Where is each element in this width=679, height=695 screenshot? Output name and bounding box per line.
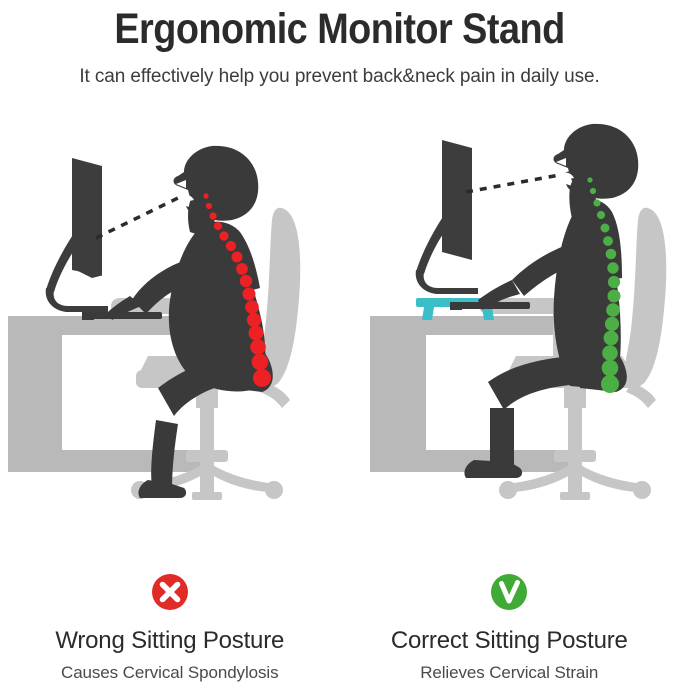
caption-title-wrong: Wrong Sitting Posture [0,626,340,656]
illustration-wrong-posture [0,120,340,540]
check-circle-icon [489,572,529,612]
x-circle-icon [150,572,190,612]
caption-title-correct: Correct Sitting Posture [340,626,679,656]
infographic-page: Ergonomic Monitor Stand It can effective… [0,0,679,695]
eye-line-wrong [96,198,178,238]
caption-subtitle-wrong: Causes Cervical Spondylosis [0,661,340,685]
desk-correct [370,316,576,472]
header: Ergonomic Monitor Stand It can effective… [0,0,679,90]
caption-correct-posture: Correct Sitting Posture Relieves Cervica… [340,560,679,695]
illustration-row [0,120,679,540]
monitor-correct [415,140,477,294]
page-title: Ergonomic Monitor Stand [41,4,639,54]
caption-wrong-posture: Wrong Sitting Posture Causes Cervical Sp… [0,560,340,695]
illustration-correct-posture [340,120,679,540]
caption-subtitle-correct: Relieves Cervical Strain [340,661,679,685]
page-subtitle: It can effectively help you prevent back… [0,64,679,90]
caption-row: Wrong Sitting Posture Causes Cervical Sp… [0,560,679,695]
